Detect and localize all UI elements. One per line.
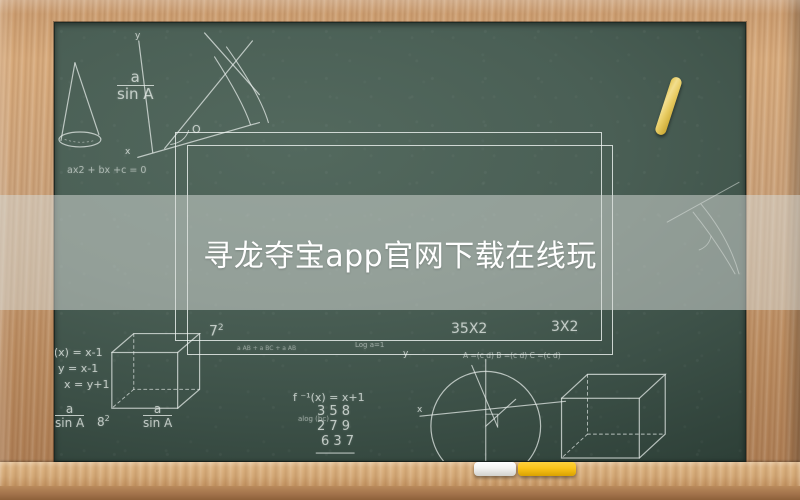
fraction-a-over-sina-topleft: a sin A — [117, 70, 154, 103]
fraction-a-over-sina-bottomleft: a sin A — [55, 403, 84, 429]
quadratic-formula: ax2 + bx +c = 0 — [67, 165, 146, 176]
cone-diagram — [59, 63, 101, 147]
white-chalk-piece — [474, 462, 516, 476]
title-banner: 寻龙夺宝app官网下载在线玩 — [0, 195, 800, 310]
axis-label-x-topleft: x — [125, 147, 130, 157]
circle-axes-diagram — [420, 359, 566, 461]
page-title: 寻龙夺宝app官网下载在线玩 — [203, 231, 596, 275]
yellow-chalk-piece — [518, 462, 576, 476]
digits-block: 3 5 8 2 7 9 6 3 7 — [317, 405, 354, 450]
inverse-function: f ⁻¹(x) = x+1 — [293, 391, 365, 404]
axis-label-x-right: x — [417, 405, 422, 415]
cube-wireframe-right — [562, 374, 666, 458]
power-8-label: 82 — [97, 414, 110, 429]
fraction-a-over-sina-bottomcenter: a sin A — [143, 403, 172, 429]
chalk-tray-lip — [0, 486, 800, 500]
function-definition-block: f(x) = x-1 y = x-1 x = y+1 — [54, 345, 109, 393]
alog-label: alog (bc) — [298, 415, 329, 423]
wooden-frame: a sin A y x O ax2 + bx +c = 0 a sin A 82… — [0, 0, 800, 500]
axis-label-y-topleft: y — [135, 31, 140, 41]
